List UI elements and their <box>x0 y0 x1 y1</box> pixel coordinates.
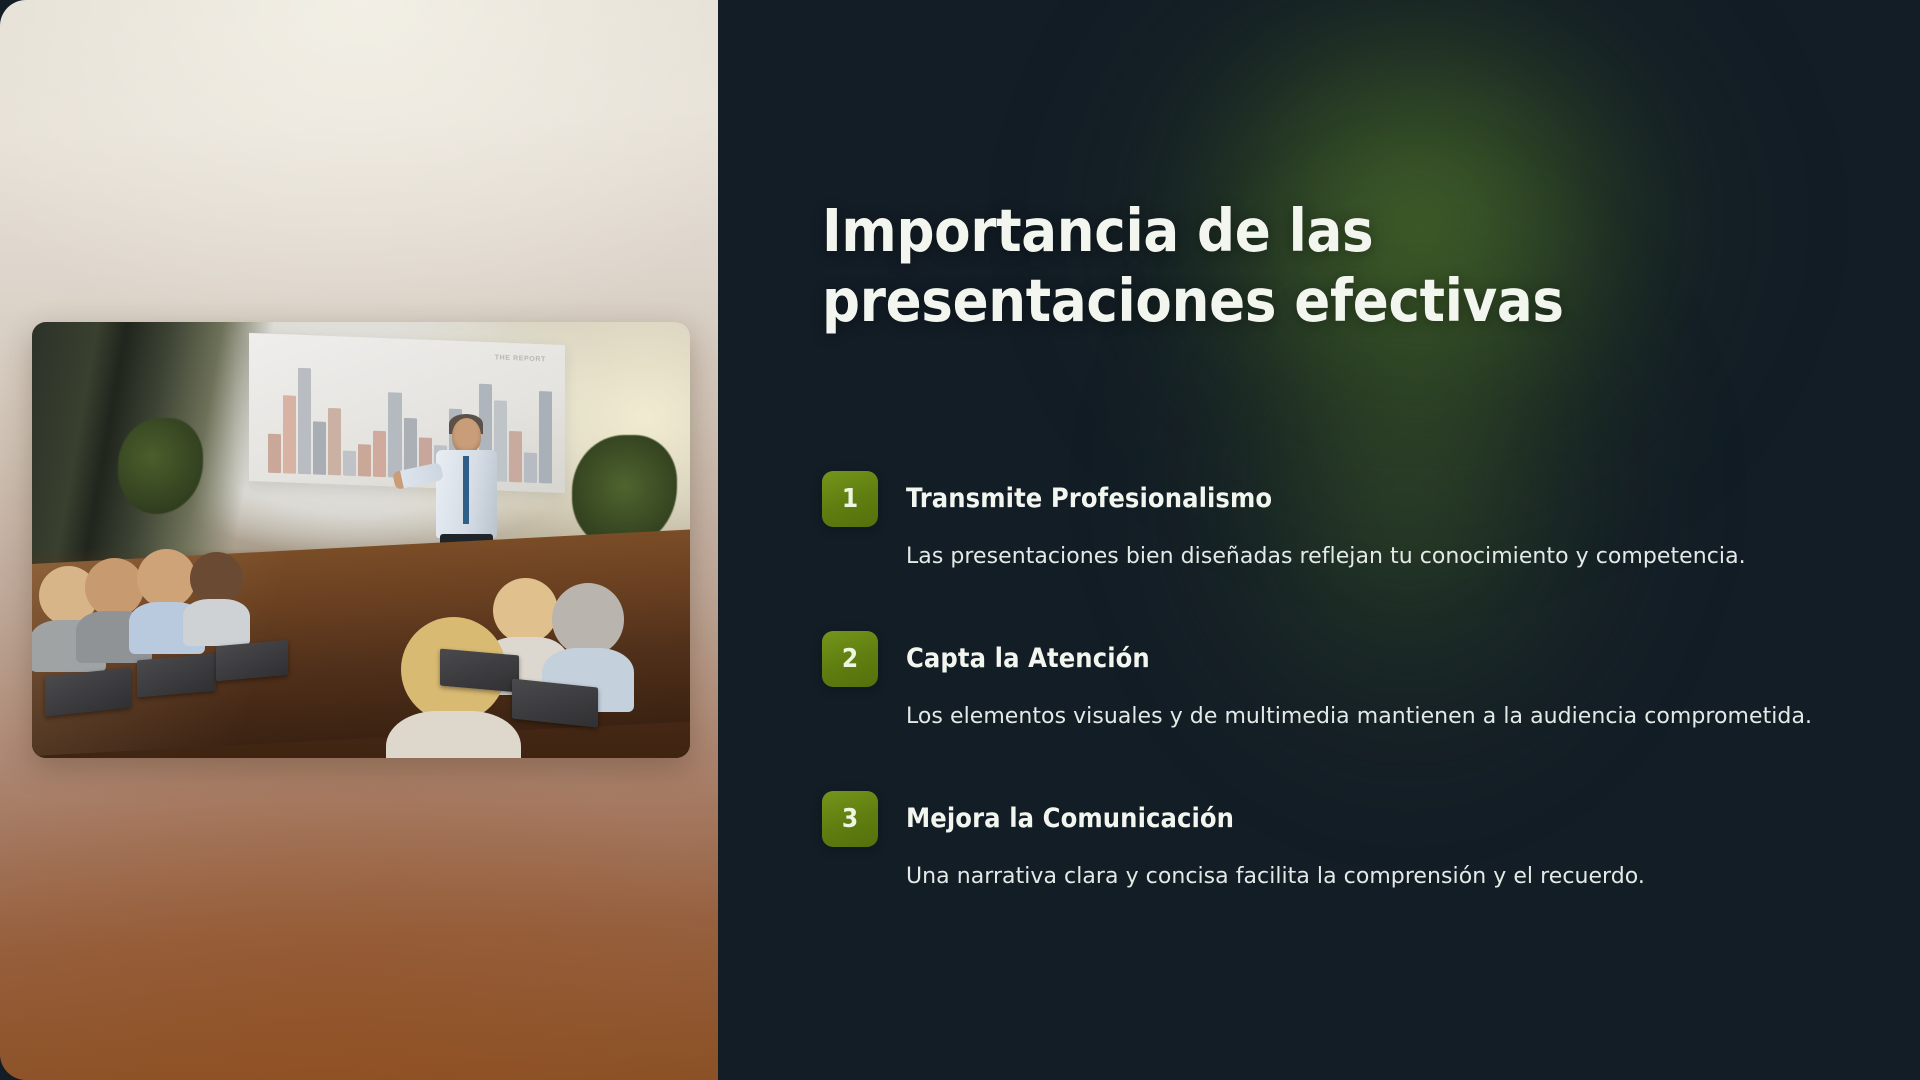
key-point-title: Mejora la Comunicación <box>906 791 1234 847</box>
laptop <box>216 640 288 681</box>
key-point-description: Las presentaciones bien diseñadas reflej… <box>906 541 1816 573</box>
key-point-item: 3Mejora la ComunicaciónUna narrativa cla… <box>822 791 1816 893</box>
key-point-title: Capta la Atención <box>906 631 1150 687</box>
key-point-item: 1Transmite ProfesionalismoLas presentaci… <box>822 471 1816 573</box>
key-point-header: 1Transmite Profesionalismo <box>822 471 1816 527</box>
projected-chart-bar <box>298 368 311 475</box>
key-point-number-badge: 1 <box>822 471 878 527</box>
slide-content: Importancia de las presentaciones efecti… <box>718 0 1920 893</box>
audience-person <box>190 552 243 646</box>
audience-group <box>32 470 690 758</box>
laptop <box>512 679 598 728</box>
projected-chart-bar <box>389 393 402 479</box>
key-point-item: 2Capta la AtenciónLos elementos visuales… <box>822 631 1816 733</box>
projected-chart-bar <box>283 395 296 474</box>
key-point-number-badge: 3 <box>822 791 878 847</box>
projected-chart-bar <box>268 434 281 474</box>
key-point-description: Los elementos visuales y de multimedia m… <box>906 701 1816 733</box>
conference-room-photo-card: THE REPORT <box>32 322 690 758</box>
page-title: Importancia de las presentaciones efecti… <box>822 196 1762 335</box>
left-media-panel: THE REPORT <box>0 0 718 1080</box>
laptop <box>137 654 216 698</box>
projected-chart-bar <box>313 422 326 476</box>
presentation-slide: THE REPORT <box>0 0 1920 1080</box>
key-point-title: Transmite Profesionalismo <box>906 471 1272 527</box>
projected-chart-bar <box>328 409 341 477</box>
laptop <box>45 667 131 716</box>
key-point-header: 2Capta la Atención <box>822 631 1816 687</box>
conference-room-photo: THE REPORT <box>32 322 690 758</box>
laptop <box>440 648 519 692</box>
projected-slide-label: THE REPORT <box>495 355 546 364</box>
key-points-list: 1Transmite ProfesionalismoLas presentaci… <box>822 471 1816 893</box>
projected-bar-chart <box>268 358 552 485</box>
key-point-header: 3Mejora la Comunicación <box>822 791 1816 847</box>
presenter-head <box>452 418 481 454</box>
right-content-panel: Importancia de las presentaciones efecti… <box>718 0 1920 1080</box>
key-point-description: Una narrativa clara y concisa facilita l… <box>906 861 1816 893</box>
key-point-number-badge: 2 <box>822 631 878 687</box>
